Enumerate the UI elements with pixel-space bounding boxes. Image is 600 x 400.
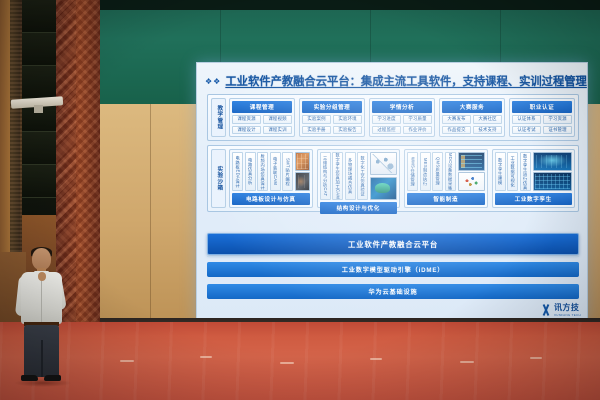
group-footer: 结构设计与优化 <box>320 202 398 214</box>
group-cell[interactable]: 学习质量 <box>403 115 432 124</box>
group-vocational-certification[interactable]: 职业认证 认证体系 学习资源 认证考试 证书管理 <box>509 98 575 137</box>
group-smart-manufacturing[interactable]: WMS仓储管理 MES制造执行 QMS质量管理 MDC设备数据采集 智能制造 <box>404 149 488 208</box>
group-structure-design[interactable]: 三维结构与分析CAT 数字孪生仿真加工CAM 多物理场耦合仿真 数字化工艺仿真验… <box>317 149 401 208</box>
light-mount <box>34 105 43 113</box>
group-experiment-management[interactable]: 实验分组管理 实验案例 实验环境 实验手册 实验报告 <box>299 98 365 137</box>
group-cell[interactable]: 实验报告 <box>333 126 362 135</box>
tool-chip[interactable]: 三维结构与分析CAT <box>320 152 331 200</box>
tool-chip[interactable]: 射频内场仿真设计 <box>257 152 268 191</box>
tool-chip[interactable]: 数字孪生仿真加工CAM <box>332 152 343 200</box>
group-cell[interactable]: 实验手册 <box>302 126 331 135</box>
beige-wall-left <box>100 104 195 324</box>
ceiling-band <box>100 0 600 10</box>
group-cell[interactable]: 课程实训 <box>263 126 292 135</box>
page-title: 工业软件产教融合云平台：集成主流工具软件，支持课程、实训过程管理 <box>225 73 587 89</box>
tool-chip[interactable]: 数字孪生建模 <box>495 152 506 191</box>
screenshot-thumbnail <box>295 172 310 191</box>
group-cell[interactable]: 课程资源 <box>232 115 261 124</box>
section-divider <box>207 256 579 257</box>
title-bullet-icon: ❖❖ <box>205 77 221 86</box>
platform-bar: 工业软件产教融合云平台 <box>207 233 579 255</box>
group-cell[interactable]: 作品提交 <box>442 126 471 135</box>
screenshot-thumbnail <box>458 152 485 171</box>
logo-mark-icon <box>540 304 552 316</box>
vendor-logo: 讯方技 XUNFANG TECH <box>540 302 581 317</box>
tool-chip[interactable]: 数字化工艺仿真验证 <box>357 152 368 200</box>
group-cell[interactable]: 认证体系 <box>512 115 541 124</box>
presenter-shoe <box>44 375 61 381</box>
tool-chip[interactable]: SMT贴片编程 <box>282 152 293 191</box>
logo-name-en: XUNFANG TECH <box>554 313 581 317</box>
teaching-management-section: 教学管理 课程管理 课程资源 课程视频 课程设计 课程实训 实验分组管理 实验案… <box>207 94 579 141</box>
presenter-head <box>32 248 51 270</box>
presenter-hand <box>38 272 46 281</box>
group-cell[interactable]: 过程监控 <box>372 126 401 135</box>
group-cell[interactable]: 证书管理 <box>543 126 572 135</box>
group-footer: 电路板设计与仿真 <box>232 193 310 205</box>
idme-engine-bar: 工业数字模型驱动引擎（iDME） <box>207 262 579 277</box>
cloud-infrastructure-bar: 华为云基础设施 <box>207 284 579 299</box>
group-pcb-design[interactable]: 电路板EDA设计 电路仿真分析 射频内场仿真设计 电子装联CAM SMT贴片编程… <box>229 149 313 208</box>
tool-chip[interactable]: WMS仓储管理 <box>407 152 418 191</box>
group-footer: 智能制造 <box>407 193 485 205</box>
screenshot-thumbnail <box>295 152 310 171</box>
group-header: 学情分析 <box>372 101 432 113</box>
lab-sandbox-label: 实验沙箱 <box>211 149 226 208</box>
group-cell[interactable]: 技术支持 <box>473 126 502 135</box>
group-cell[interactable]: 实验环境 <box>333 115 362 124</box>
group-cell[interactable]: 课程设计 <box>232 126 261 135</box>
group-learning-analytics[interactable]: 学情分析 学习进度 学习质量 过程监控 作业评价 <box>369 98 435 137</box>
led-presentation-screen: ❖❖ 工业软件产教融合云平台：集成主流工具软件，支持课程、实训过程管理 教学管理… <box>196 62 588 322</box>
group-digital-twin[interactable]: 数字孪生建模 工业数据可视化 数字孪生运行仿真 工业数字孪生 <box>492 149 576 208</box>
presenter-shoe <box>21 375 38 381</box>
group-course-management[interactable]: 课程管理 课程资源 课程视频 课程设计 课程实训 <box>229 98 295 137</box>
slide-title: ❖❖ 工业软件产教融合云平台：集成主流工具软件，支持课程、实训过程管理 <box>205 72 581 90</box>
group-cell[interactable]: 学习进度 <box>372 115 401 124</box>
logo-name-cn: 讯方技 <box>554 302 581 313</box>
group-header: 大赛服务 <box>442 101 502 113</box>
tool-chip[interactable]: 数字孪生运行仿真 <box>520 152 531 191</box>
tool-chip[interactable]: 电子装联CAM <box>270 152 281 191</box>
tool-chip[interactable]: MDC设备数据采集 <box>445 152 456 191</box>
teaching-management-label: 教学管理 <box>211 98 226 137</box>
group-header: 课程管理 <box>232 101 292 113</box>
group-header: 实验分组管理 <box>302 101 362 113</box>
tool-chip[interactable]: 多物理场耦合仿真 <box>345 152 356 200</box>
presenter <box>8 248 78 388</box>
group-cell[interactable]: 课程视频 <box>263 115 292 124</box>
screenshot-thumbnail <box>458 172 485 191</box>
tool-chip[interactable]: 电路板EDA设计 <box>232 152 243 191</box>
group-competition-service[interactable]: 大赛服务 大赛发布 大赛社区 作品提交 技术支持 <box>439 98 505 137</box>
screenshot-thumbnail <box>533 152 573 171</box>
group-cell[interactable]: 认证考试 <box>512 126 541 135</box>
tool-chip[interactable]: 工业数据可视化 <box>507 152 518 191</box>
screenshot-thumbnail <box>370 177 397 200</box>
group-footer: 工业数字孪生 <box>495 193 573 205</box>
tool-chip[interactable]: 电路仿真分析 <box>245 152 256 191</box>
conference-photo: ❖❖ 工业软件产教融合云平台：集成主流工具软件，支持课程、实训过程管理 教学管理… <box>0 0 600 400</box>
screenshot-thumbnail <box>370 152 397 175</box>
lab-sandbox-section: 实验沙箱 电路板EDA设计 电路仿真分析 射频内场仿真设计 电子装联CAM SM… <box>207 145 579 212</box>
group-cell[interactable]: 大赛社区 <box>473 115 502 124</box>
screenshot-thumbnail <box>533 172 573 191</box>
group-cell[interactable]: 作业评价 <box>403 126 432 135</box>
group-cell[interactable]: 学习资源 <box>543 115 572 124</box>
tool-chip[interactable]: QMS质量管理 <box>432 152 443 191</box>
group-header: 职业认证 <box>512 101 572 113</box>
tool-chip[interactable]: MES制造执行 <box>420 152 431 191</box>
group-cell[interactable]: 大赛发布 <box>442 115 471 124</box>
group-cell[interactable]: 实验案例 <box>302 115 331 124</box>
